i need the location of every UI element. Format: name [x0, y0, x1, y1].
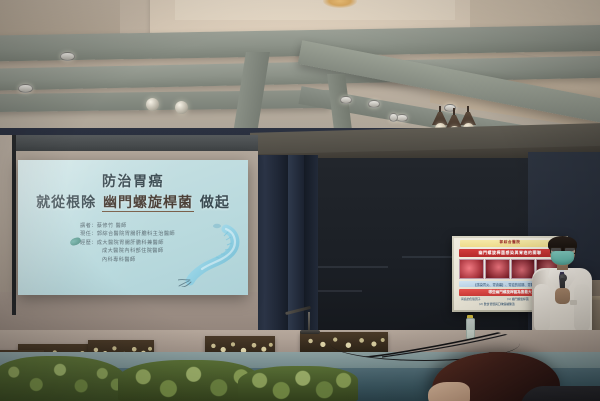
panel-seam	[318, 266, 388, 268]
secondary-slide-footer-mid2: (2) 飲食習慣與口味偏鹹醃漬	[461, 303, 515, 307]
slide-title-line2-prefix: 就從根除	[36, 195, 96, 211]
presenter-arm-left	[534, 284, 550, 332]
smoke-detector-icon	[389, 113, 398, 122]
presenter-hands	[555, 288, 570, 304]
greenery-planter	[118, 360, 258, 401]
slide-title-line2: 就從根除 幽門螺旋桿菌 做起	[18, 192, 248, 212]
greenery-planter	[0, 356, 126, 401]
recessed-light-icon	[18, 84, 33, 93]
lecture-hall-photo: 防治胃癌 就從根除 幽門螺旋桿菌 做起 講者：蔡修竹 醫師 現任：郭綜合醫院胃腸…	[0, 0, 600, 401]
projection-screen-housing	[12, 135, 258, 151]
microphone-stand-base	[300, 330, 320, 334]
presenter-arm-right	[574, 284, 590, 332]
microphone-stand-rod	[308, 312, 310, 332]
main-projection-screen[interactable]: 防治胃癌 就從根除 幽門螺旋桿菌 做起 講者：蔡修竹 醫師 現任：郭綜合醫院胃腸…	[18, 160, 248, 295]
endoscopy-image	[485, 259, 510, 279]
recessed-light-icon	[60, 52, 75, 61]
presenter-face-mask	[551, 251, 574, 265]
panel-seam	[318, 290, 362, 292]
audience-member-face	[428, 382, 470, 401]
audience-member-shoulder	[520, 386, 600, 401]
greenery-planter	[238, 366, 358, 401]
endoscopy-image	[459, 259, 484, 279]
pendant-rod	[453, 108, 455, 116]
ceiling-recess-inner	[175, 0, 455, 20]
slide-title-highlight: 幽門螺旋桿菌	[102, 195, 194, 212]
presenter-id-badge	[570, 300, 577, 305]
projection-screen-edge	[12, 135, 16, 315]
ceiling-beam-lower	[0, 90, 330, 112]
recessed-light-icon	[368, 100, 380, 108]
track-light-icon	[175, 101, 188, 114]
recessed-light-icon	[340, 96, 352, 104]
secondary-slide-footer-left: 胃癌的危險因子	[461, 298, 481, 302]
helicobacter-pylori-illustration	[178, 223, 244, 287]
slide-title-line2-suffix: 做起	[200, 195, 230, 211]
slide-title-line1: 防治胃癌	[18, 171, 248, 191]
track-light-icon	[146, 98, 159, 111]
